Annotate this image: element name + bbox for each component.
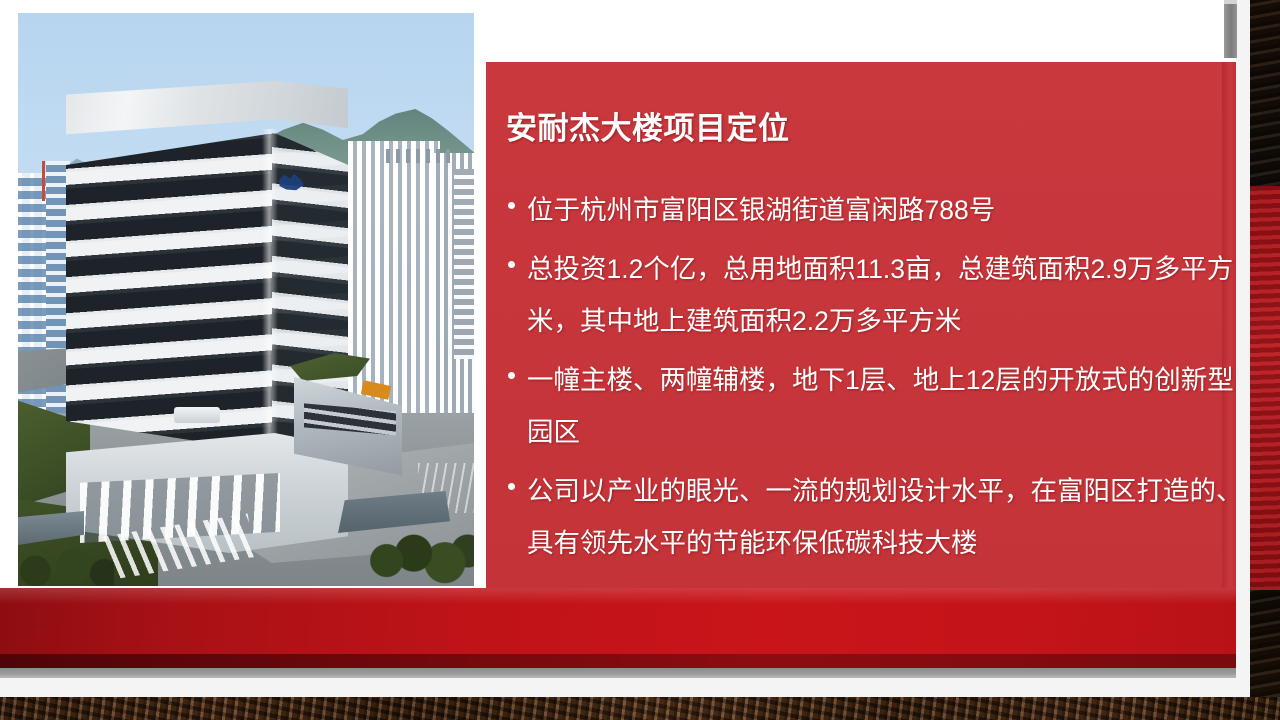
page-title: 安耐杰大楼项目定位 [506,103,1206,148]
building-crown [66,81,348,143]
bullet-dot-icon [508,261,515,268]
desk-red-reflection-right [1250,186,1280,590]
tree-cluster-bottom-left [18,547,114,586]
background-tower-right-3 [454,169,474,359]
rooftop-equipment [174,407,220,423]
building-corner-highlight [262,129,278,459]
main-building [66,81,348,559]
vertical-scrollbar[interactable] [1224,0,1237,58]
list-item-label: 总投资1.2个亿，总用地面积11.3亩，总建筑面积2.9万多平方米，其中地上建筑… [527,243,1245,347]
list-item: 位于杭州市富阳区银湖街道富闲路788号 [505,184,1245,236]
footer-band-shadow [0,654,1236,668]
bullet-dot-icon [508,202,515,209]
list-item: 一幢主楼、两幢辅楼，地下1层、地上12层的开放式的创新型园区 [505,354,1245,458]
construction-crane-icon [42,161,45,201]
presentation-slide: 安耐杰大楼项目定位 位于杭州市富阳区银湖街道富闲路788号 总投资1.2个亿，总… [0,0,1280,720]
bullet-dot-icon [508,372,515,379]
footer-band-gloss [0,588,1236,604]
desk-texture-bottom [0,697,1280,720]
background-tower-rooftop-units [386,149,452,163]
scrollbar-cap [1224,0,1237,4]
list-item: 总投资1.2个亿，总用地面积11.3亩，总建筑面积2.9万多平方米，其中地上建筑… [505,243,1245,347]
building-photo [18,13,474,586]
list-item-label: 位于杭州市富阳区银湖街道富闲路788号 [527,184,1245,236]
list-item: 公司以产业的眼光、一流的规划设计水平，在富阳区打造的、具有领先水平的节能环保低碳… [505,465,1245,569]
list-item-label: 一幢主楼、两幢辅楼，地下1层、地上12层的开放式的创新型园区 [527,354,1245,458]
slide-bottom-shadow [0,668,1236,678]
list-item-label: 公司以产业的眼光、一流的规划设计水平，在富阳区打造的、具有领先水平的节能环保低碳… [527,465,1245,569]
tree-cluster-right [370,533,474,586]
bullet-list: 位于杭州市富阳区银湖街道富闲路788号 总投资1.2个亿，总用地面积11.3亩，… [505,184,1245,576]
bullet-dot-icon [508,483,515,490]
